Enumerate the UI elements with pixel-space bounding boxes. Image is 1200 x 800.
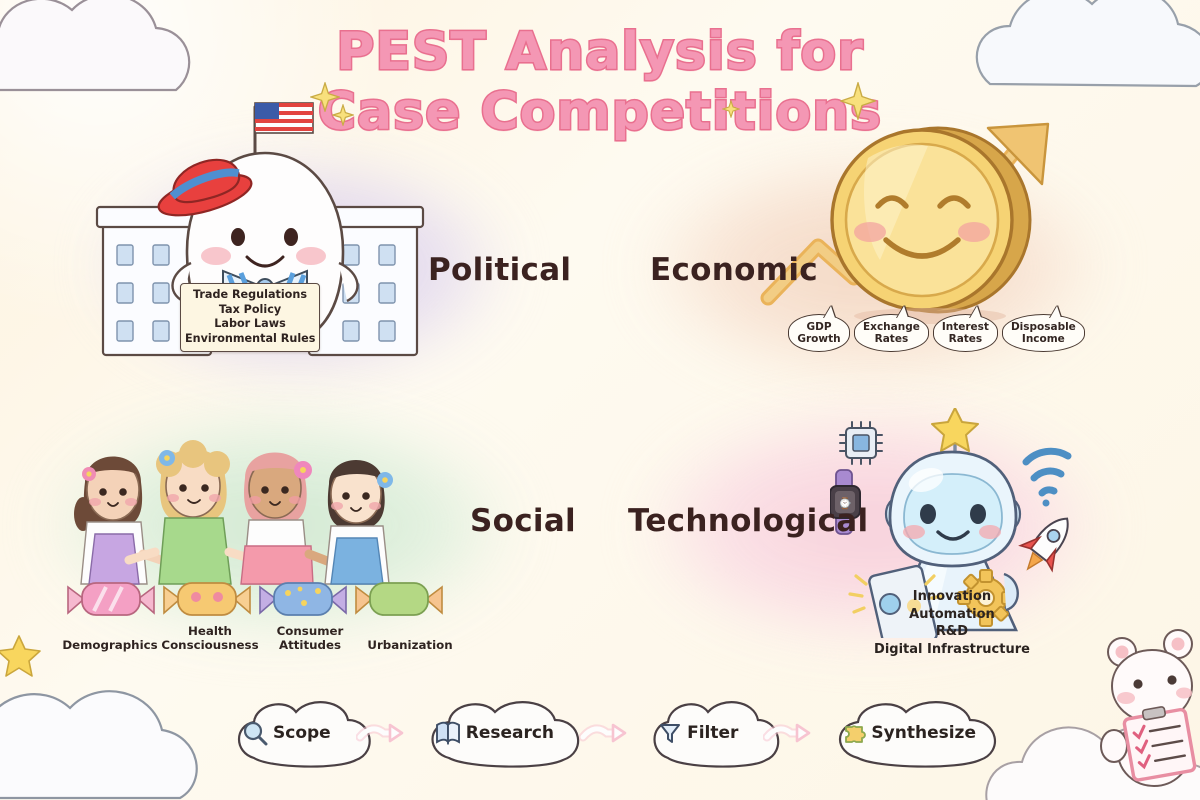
- political-sign-item: Environmental Rules: [185, 332, 315, 347]
- cloud-bottom-right-icon: [984, 690, 1200, 800]
- economic-bubble-label: Interest Rates: [942, 321, 989, 345]
- quadrant-label-economic: Economic: [650, 252, 818, 288]
- economic-bubble: Exchange Rates: [854, 314, 929, 352]
- flow-arrow-3-icon: [763, 713, 813, 753]
- poster-title: PEST Analysis for Case Competitions: [0, 22, 1200, 142]
- flow-step-label: Research: [466, 723, 554, 743]
- magnifier-icon: [242, 720, 268, 746]
- bubble-tail-icon: [970, 306, 981, 318]
- economic-bubble-label: GDP Growth: [797, 321, 841, 345]
- economic-bubble: GDP Growth: [788, 314, 850, 352]
- candy-urbanization-icon: [356, 583, 442, 615]
- flow-step-research[interactable]: Research: [425, 698, 560, 768]
- title-line-2: Case Competitions: [0, 82, 1200, 142]
- social-label: Demographics: [60, 639, 160, 653]
- political-sign: Trade Regulations Tax Policy Labor Laws …: [180, 283, 320, 352]
- child-4: [325, 460, 393, 584]
- economic-bubble: Disposable Income: [1002, 314, 1085, 352]
- economic-bubble: Interest Rates: [933, 314, 998, 352]
- flow-step-filter[interactable]: Filter: [648, 698, 744, 768]
- economic-bubble-row: GDP Growth Exchange Rates Interest Rates…: [788, 314, 1146, 366]
- tech-term: R&D: [862, 623, 1042, 641]
- title-line-1: PEST Analysis for: [0, 22, 1200, 82]
- star-left-edge-icon: [0, 632, 42, 678]
- quadrant-label-social: Social: [470, 503, 576, 539]
- flow-step-label: Filter: [687, 723, 738, 743]
- candy-consumer-icon: [260, 583, 346, 615]
- process-flow: Scope Research: [232, 696, 982, 770]
- candy-demographics-icon: [68, 583, 154, 615]
- cloud-bottom-left-icon: [0, 648, 230, 800]
- puzzle-piece-icon: [842, 721, 866, 745]
- quadrant-label-political: Political: [428, 252, 571, 288]
- book-icon: [435, 721, 461, 745]
- sparkle-mid-icon: [722, 100, 740, 118]
- political-sign-item: Trade Regulations: [185, 288, 315, 303]
- candy-health-icon: [164, 583, 250, 615]
- flow-step-label: Synthesize: [871, 723, 976, 743]
- bubble-tail-icon: [824, 306, 835, 318]
- quadrant-label-technological: Technological: [628, 503, 868, 539]
- child-2: [129, 440, 255, 584]
- bubble-tail-icon: [897, 306, 908, 318]
- tech-term: Digital Infrastructure: [862, 641, 1042, 659]
- sparkle-left-small-icon: [332, 104, 354, 126]
- social-label: Urbanization: [360, 639, 460, 653]
- tech-term: Automation: [862, 606, 1042, 624]
- political-sign-item: Tax Policy: [185, 303, 315, 318]
- technological-terms: Innovation Automation R&D Digital Infras…: [862, 588, 1042, 658]
- tech-term: Innovation: [862, 588, 1042, 606]
- child-1: [74, 457, 173, 585]
- flow-step-scope[interactable]: Scope: [232, 698, 337, 768]
- social-label-row: Demographics Health Consciousness Consum…: [60, 612, 460, 652]
- wifi-icon: [1026, 451, 1068, 506]
- chip-icon: [840, 422, 882, 464]
- flow-step-label: Scope: [273, 723, 331, 743]
- political-sign-item: Labor Laws: [185, 317, 315, 332]
- bear-with-clipboard-icon: [1074, 614, 1200, 794]
- economic-bubble-label: Disposable Income: [1011, 321, 1076, 345]
- economic-illustration: [760, 110, 1090, 325]
- rocket-icon: [1012, 506, 1080, 581]
- flow-arrow-1-icon: [356, 713, 406, 753]
- social-label: Health Consciousness: [160, 625, 260, 652]
- bubble-tail-icon: [1050, 306, 1061, 318]
- flow-arrow-2-icon: [579, 713, 629, 753]
- pest-analysis-poster: PEST Analysis for Case Competitions: [0, 0, 1200, 800]
- sparkle-right-icon: [840, 82, 876, 120]
- economic-bubble-label: Exchange Rates: [863, 321, 920, 345]
- flow-step-synthesize[interactable]: Synthesize: [832, 698, 982, 768]
- child-3: [241, 453, 335, 585]
- social-label: Consumer Attitudes: [260, 625, 360, 652]
- funnel-icon: [658, 721, 682, 745]
